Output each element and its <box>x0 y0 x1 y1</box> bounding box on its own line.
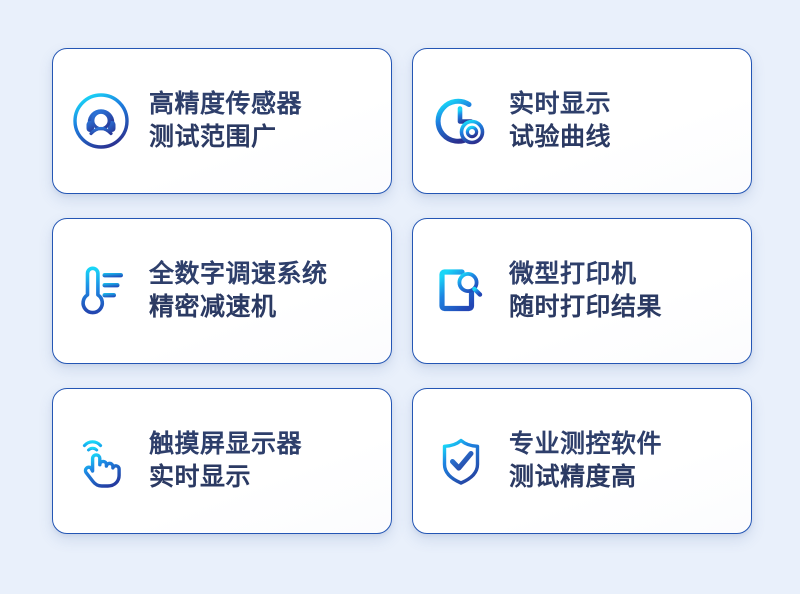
feature-line-2: 精密减速机 <box>149 291 377 324</box>
feature-card-grid: 高精度传感器 测试范围广 <box>52 48 752 534</box>
feature-line-2: 试验曲线 <box>509 121 737 154</box>
feature-card-digital-speed-control[interactable]: 全数字调速系统 精密减速机 <box>52 218 392 364</box>
feature-line-1: 实时显示 <box>509 88 737 121</box>
clock-target-icon <box>413 49 509 193</box>
feature-line-1: 微型打印机 <box>509 258 737 291</box>
feature-line-2: 测试范围广 <box>149 121 377 154</box>
feature-card-micro-printer[interactable]: 微型打印机 随时打印结果 <box>412 218 752 364</box>
document-search-icon <box>413 219 509 363</box>
feature-card-text: 触摸屏显示器 实时显示 <box>149 428 391 495</box>
feature-line-2: 实时显示 <box>149 461 377 494</box>
feature-line-1: 全数字调速系统 <box>149 258 377 291</box>
shield-check-icon <box>413 389 509 533</box>
feature-card-text: 实时显示 试验曲线 <box>509 88 751 155</box>
headset-circle-icon <box>53 49 149 193</box>
feature-highlights-page: 高精度传感器 测试范围广 <box>0 0 800 594</box>
feature-card-realtime-display[interactable]: 实时显示 试验曲线 <box>412 48 752 194</box>
feature-line-2: 测试精度高 <box>509 461 737 494</box>
feature-line-1: 高精度传感器 <box>149 88 377 121</box>
feature-card-text: 全数字调速系统 精密减速机 <box>149 258 391 325</box>
feature-card-high-precision-sensor[interactable]: 高精度传感器 测试范围广 <box>52 48 392 194</box>
feature-card-professional-software[interactable]: 专业测控软件 测试精度高 <box>412 388 752 534</box>
feature-card-text: 专业测控软件 测试精度高 <box>509 428 751 495</box>
feature-card-touchscreen-display[interactable]: 触摸屏显示器 实时显示 <box>52 388 392 534</box>
feature-card-text: 微型打印机 随时打印结果 <box>509 258 751 325</box>
thermometer-lines-icon <box>53 219 149 363</box>
feature-line-2: 随时打印结果 <box>509 291 737 324</box>
touch-hand-icon <box>53 389 149 533</box>
feature-line-1: 专业测控软件 <box>509 428 737 461</box>
feature-card-text: 高精度传感器 测试范围广 <box>149 88 391 155</box>
feature-line-1: 触摸屏显示器 <box>149 428 377 461</box>
